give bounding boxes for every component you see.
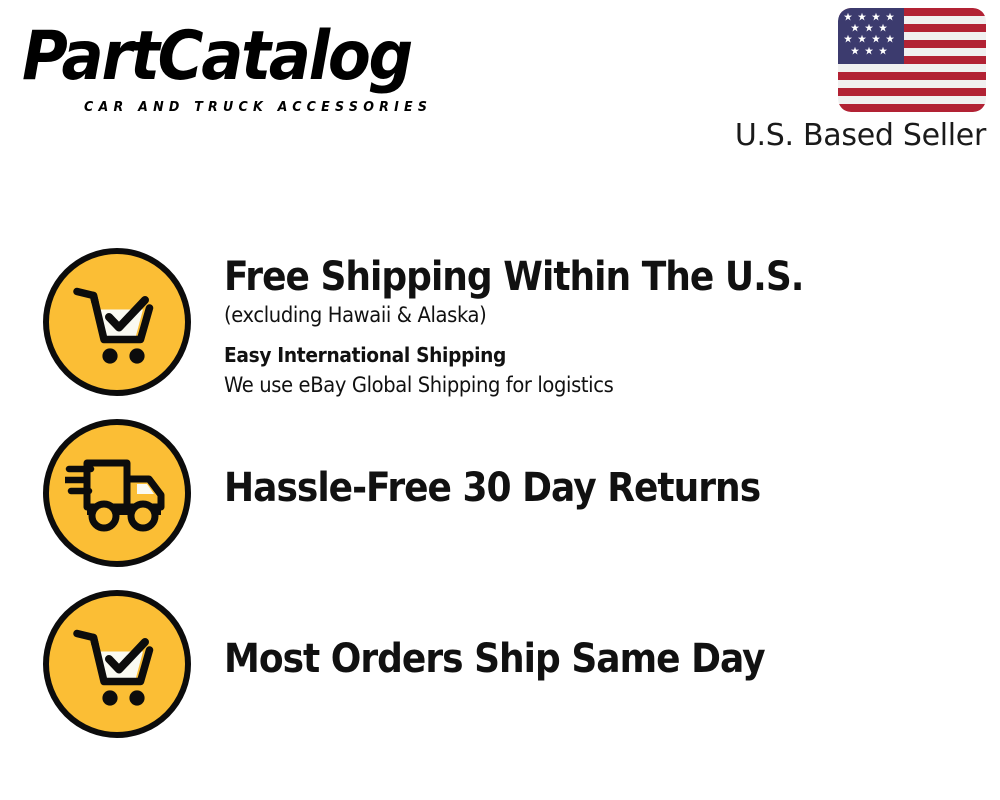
- feature-sub-strong: Easy International Shipping: [224, 341, 946, 370]
- delivery-truck-icon: [65, 453, 169, 533]
- seller-badge: U.S. Based Seller: [714, 8, 986, 153]
- brand-logo[interactable]: PartCatalog CAR AND TRUCK ACCESSORIES: [22, 24, 492, 116]
- feature-subtitle: (excluding Hawaii & Alaska): [224, 300, 946, 330]
- us-flag-icon: [838, 8, 986, 112]
- shopping-cart-check-icon: [69, 277, 165, 367]
- brand-tagline: CAR AND TRUCK ACCESSORIES: [84, 100, 432, 115]
- feature-row: Free Shipping Within The U.S. (excluding…: [0, 248, 1000, 420]
- feature-icon-badge: [43, 590, 191, 738]
- feature-text: Most Orders Ship Same Day: [224, 590, 1000, 682]
- feature-title: Free Shipping Within The U.S.: [224, 254, 922, 300]
- feature-title: Most Orders Ship Same Day: [224, 636, 922, 682]
- feature-icon-badge: [43, 248, 191, 396]
- feature-icon-badge: [43, 419, 191, 567]
- feature-list: Free Shipping Within The U.S. (excluding…: [0, 170, 1000, 800]
- feature-text: Hassle-Free 30 Day Returns: [224, 419, 1000, 511]
- feature-text: Free Shipping Within The U.S. (excluding…: [224, 248, 1000, 400]
- feature-title: Hassle-Free 30 Day Returns: [224, 465, 922, 511]
- feature-row: Hassle-Free 30 Day Returns: [0, 419, 1000, 591]
- feature-sub-note: We use eBay Global Shipping for logistic…: [224, 370, 946, 400]
- feature-row: Most Orders Ship Same Day: [0, 590, 1000, 762]
- brand-wordmark: PartCatalog: [22, 24, 454, 90]
- page-header: PartCatalog CAR AND TRUCK ACCESSORIES: [0, 0, 1000, 170]
- shopping-cart-check-icon: [69, 619, 165, 709]
- seller-label: U.S. Based Seller: [714, 119, 986, 153]
